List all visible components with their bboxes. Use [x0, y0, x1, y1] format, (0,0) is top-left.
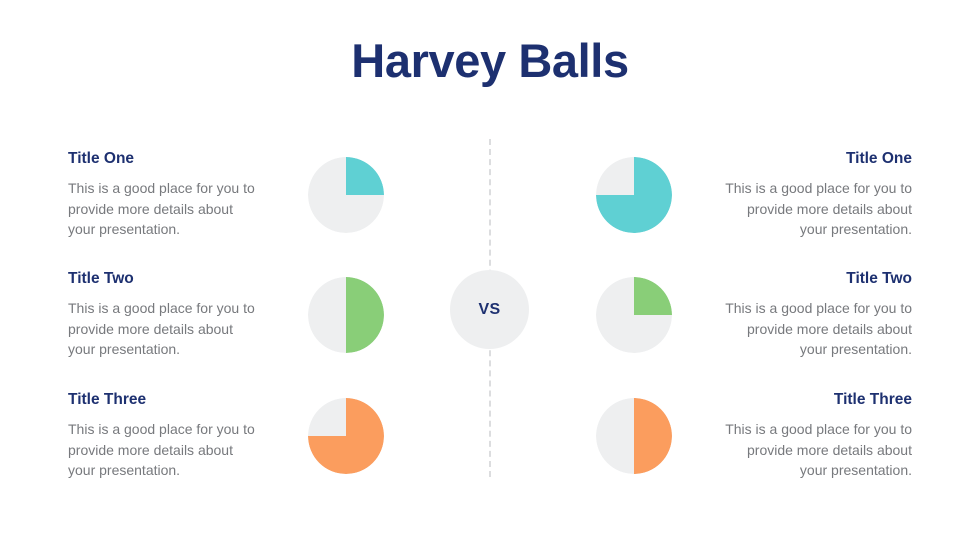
right-text-block-3: Title Three This is a good place for you… [720, 391, 912, 480]
harvey-ball-right-2 [596, 277, 672, 353]
harvey-ball-left-1 [308, 157, 384, 233]
right-text-block-2: Title Two This is a good place for you t… [720, 270, 912, 359]
right-item-title-2: Title Two [720, 270, 912, 289]
right-item-title-1: Title One [720, 150, 912, 169]
right-row-1: Title One This is a good place for you t… [596, 145, 912, 245]
left-item-description-3: This is a good place for you to provide … [68, 419, 260, 481]
harvey-ball-right-1 [596, 157, 672, 233]
left-text-block-2: Title Two This is a good place for you t… [68, 270, 260, 359]
pie-icon [596, 277, 672, 353]
left-text-block-3: Title Three This is a good place for you… [68, 391, 260, 480]
pie-icon [308, 157, 384, 233]
pie-icon [596, 398, 672, 474]
right-item-description-1: This is a good place for you to provide … [720, 178, 912, 240]
harvey-ball-right-3 [596, 398, 672, 474]
left-item-title-1: Title One [68, 150, 260, 169]
left-row-2: Title Two This is a good place for you t… [68, 265, 384, 365]
left-row-3: Title Three This is a good place for you… [68, 386, 384, 486]
left-text-block-1: Title One This is a good place for you t… [68, 150, 260, 239]
left-item-description-2: This is a good place for you to provide … [68, 298, 260, 360]
right-item-title-3: Title Three [720, 391, 912, 410]
pie-icon [308, 398, 384, 474]
pie-icon [596, 157, 672, 233]
pie-icon [308, 277, 384, 353]
harvey-ball-left-3 [308, 398, 384, 474]
right-text-block-1: Title One This is a good place for you t… [720, 150, 912, 239]
right-row-3: Title Three This is a good place for you… [596, 386, 912, 486]
vs-badge-label: VS [479, 301, 501, 319]
left-item-title-2: Title Two [68, 270, 260, 289]
right-item-description-3: This is a good place for you to provide … [720, 419, 912, 481]
vs-badge: VS [450, 270, 529, 349]
right-item-description-2: This is a good place for you to provide … [720, 298, 912, 360]
page-title: Harvey Balls [0, 34, 980, 88]
slide-canvas: Harvey Balls VS Title One This is a good… [0, 0, 980, 551]
right-row-2: Title Two This is a good place for you t… [596, 265, 912, 365]
left-item-title-3: Title Three [68, 391, 260, 410]
left-item-description-1: This is a good place for you to provide … [68, 178, 260, 240]
harvey-ball-left-2 [308, 277, 384, 353]
left-row-1: Title One This is a good place for you t… [68, 145, 384, 245]
